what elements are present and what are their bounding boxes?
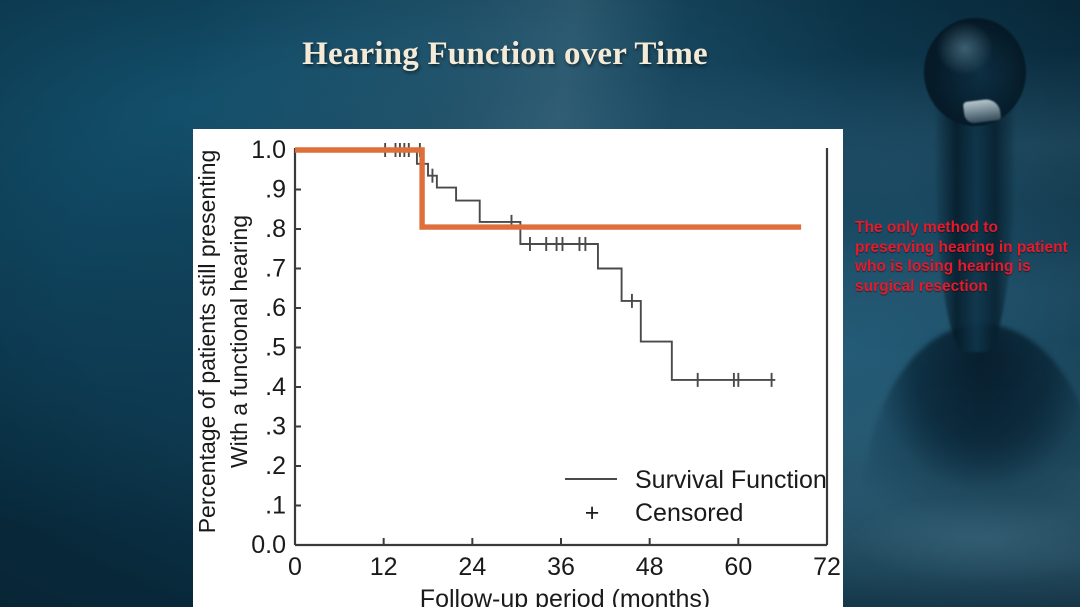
y-tick-label: .5 — [265, 334, 286, 362]
page-title: Hearing Function over Time — [0, 36, 1010, 73]
y-tick-label: .4 — [265, 373, 286, 401]
y-axis-label-line1: Percentage of patients still presenting — [194, 150, 220, 534]
y-tick-label: .3 — [265, 413, 286, 441]
y-tick-label: .6 — [265, 294, 286, 322]
y-tick-label: 1.0 — [251, 136, 286, 164]
survival-chart: 0.0.1.2.3.4.5.6.7.8.91.00122436486072Fol… — [193, 129, 843, 607]
red-annotation-text: The only method to preserving hearing in… — [855, 218, 1073, 297]
y-tick-label: .2 — [265, 452, 286, 480]
chart-panel: 0.0.1.2.3.4.5.6.7.8.91.00122436486072Fol… — [193, 129, 843, 607]
y-tick-label: 0.0 — [251, 531, 286, 559]
legend-plus-icon: + — [585, 499, 600, 527]
x-tick-label: 36 — [547, 553, 575, 581]
y-tick-label: .1 — [265, 492, 286, 520]
x-axis-label: Follow-up period (months) — [420, 585, 710, 607]
y-tick-label: .9 — [265, 176, 286, 204]
slide-root: Hearing Function over Time The only meth… — [0, 0, 1080, 607]
highlight-curve — [295, 150, 801, 227]
x-tick-label: 48 — [636, 553, 664, 581]
x-tick-label: 12 — [370, 553, 398, 581]
y-tick-label: .7 — [265, 255, 286, 283]
y-tick-label: .8 — [265, 215, 286, 243]
x-tick-label: 72 — [813, 553, 841, 581]
legend-label-censored: Censored — [635, 499, 743, 527]
survival-curve — [295, 150, 775, 380]
legend-label-survival: Survival Function — [635, 466, 827, 494]
x-tick-label: 60 — [724, 553, 752, 581]
x-tick-label: 0 — [288, 553, 302, 581]
x-tick-label: 24 — [458, 553, 486, 581]
y-axis-label-line2: With a functional hearing — [226, 215, 252, 468]
